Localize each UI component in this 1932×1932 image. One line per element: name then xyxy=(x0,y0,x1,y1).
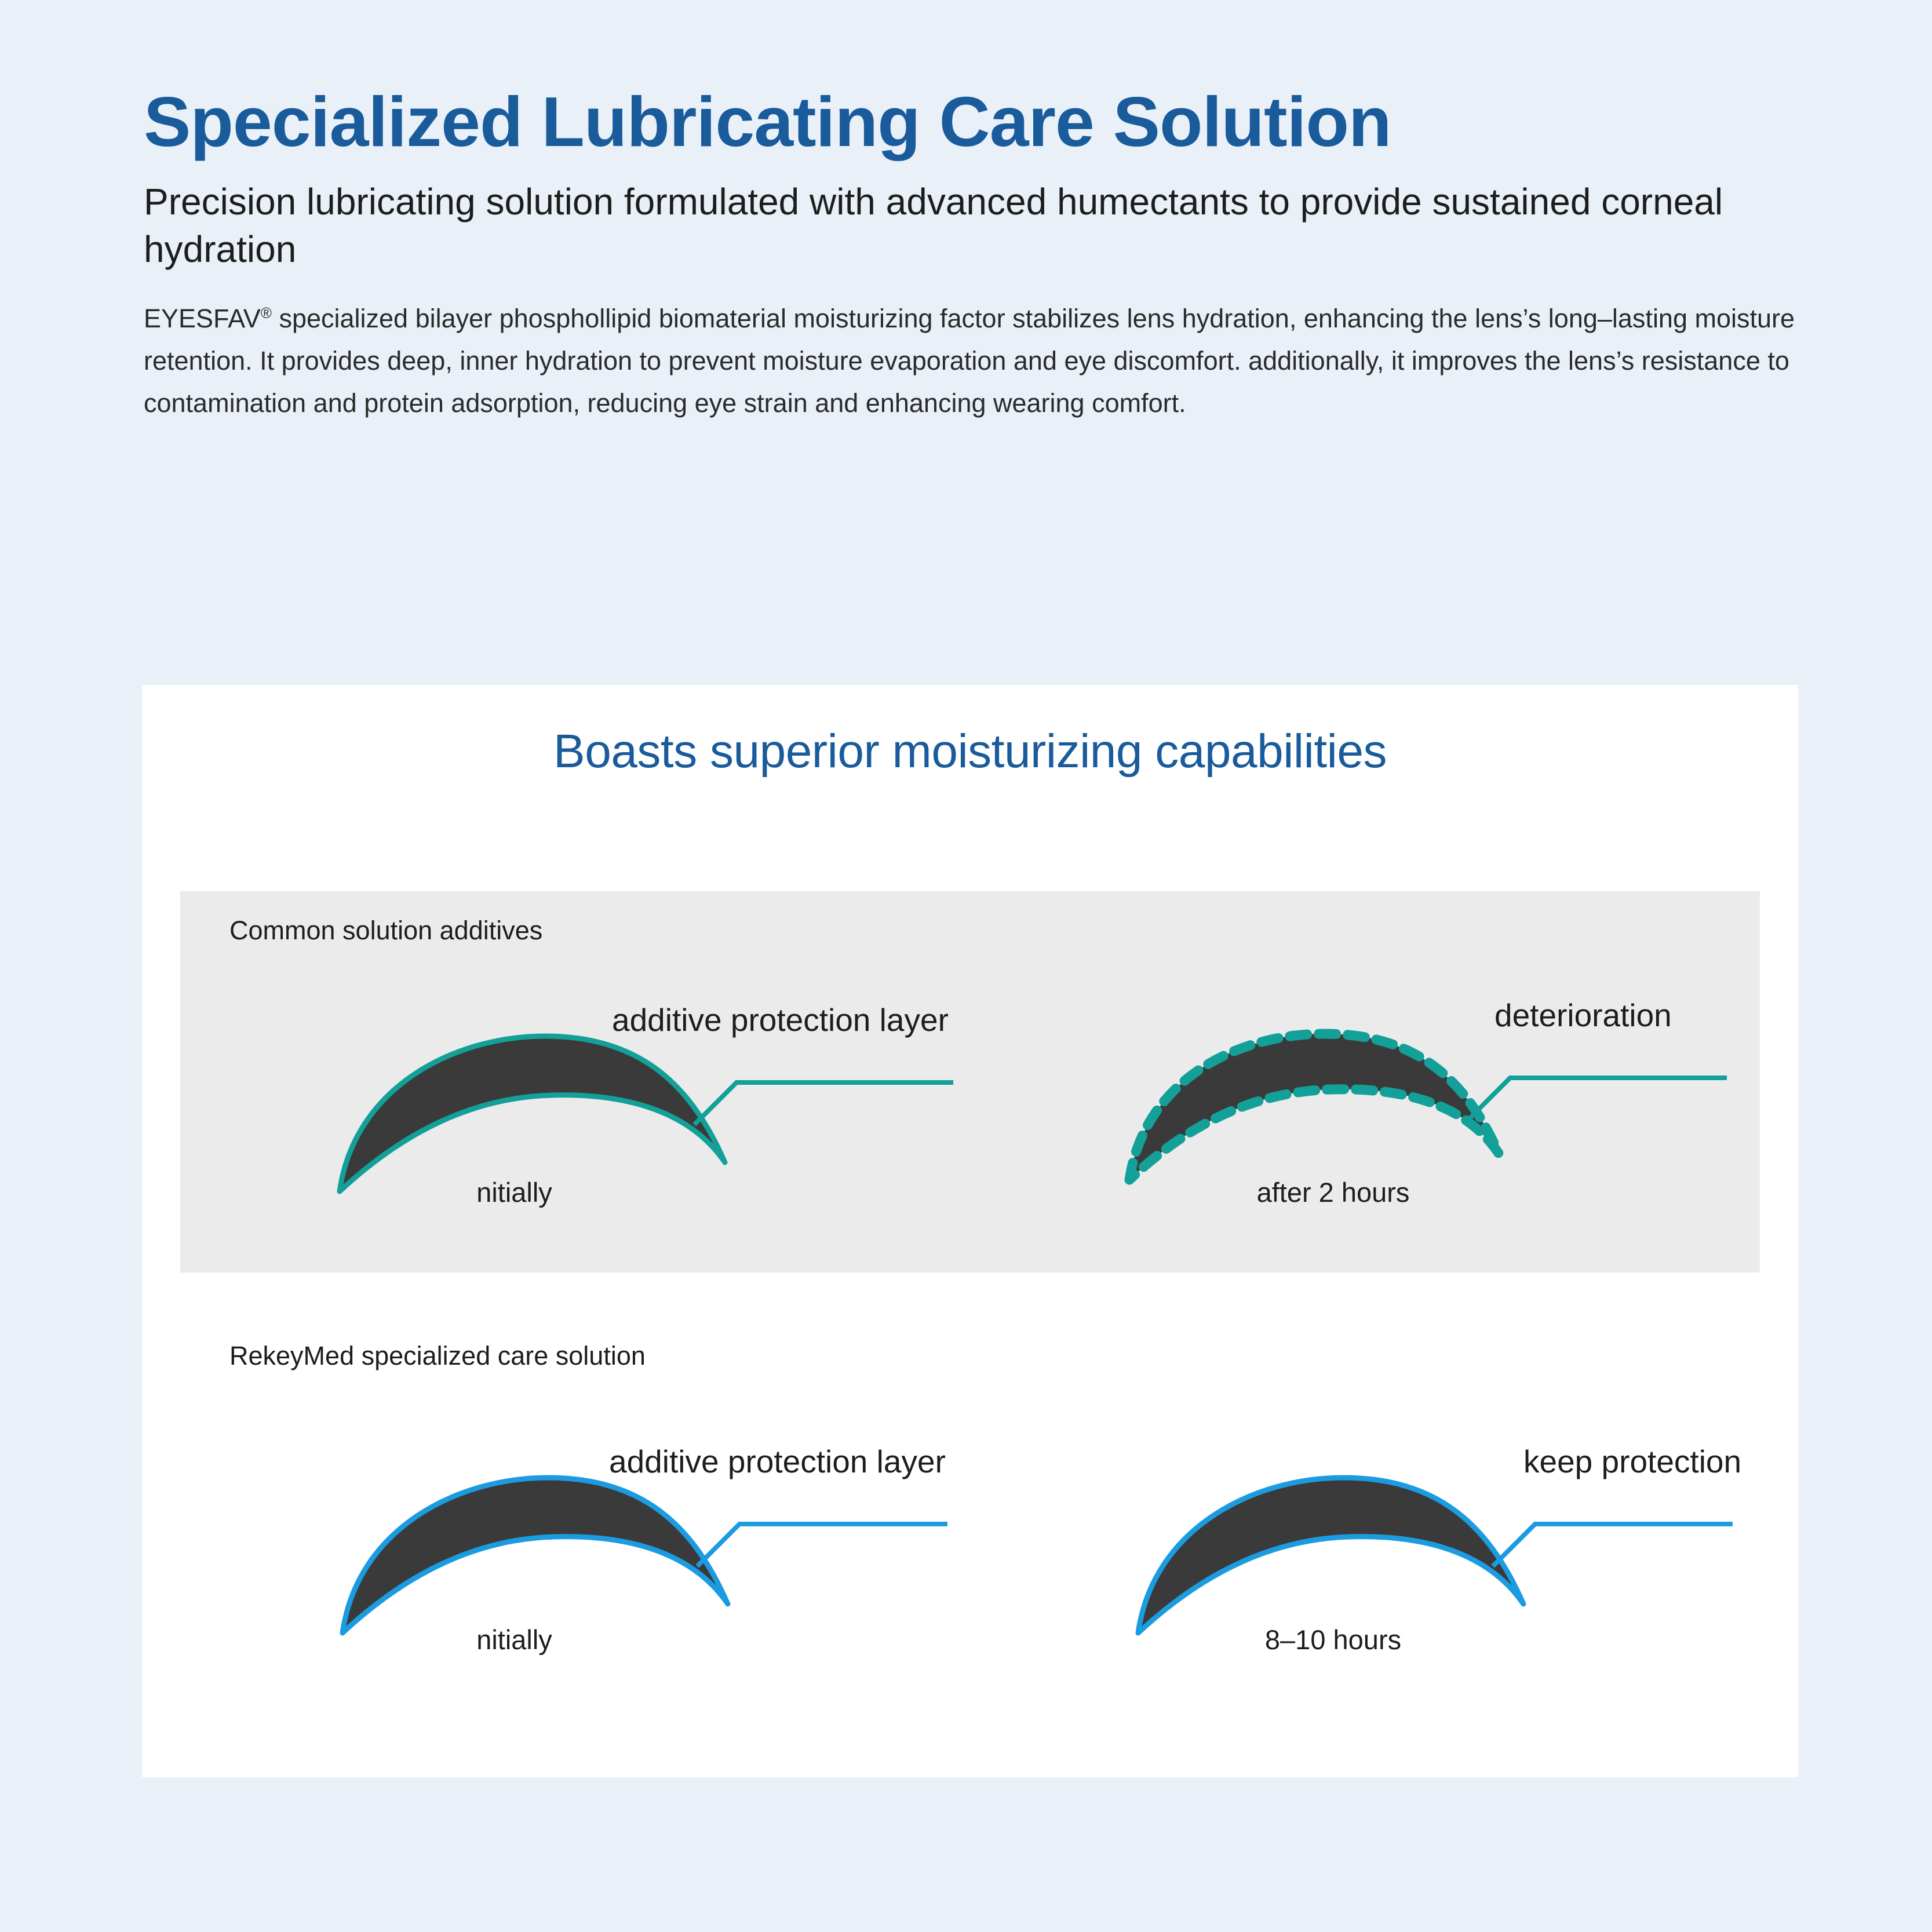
lens-crescent-dashed-teal-icon xyxy=(970,891,1760,1273)
panel-common-solution: Common solution additives additive prote… xyxy=(180,891,1760,1273)
page-subtitle: Precision lubricating solution formulate… xyxy=(144,178,1801,274)
card-heading: Boasts superior moisturizing capabilitie… xyxy=(142,724,1798,779)
caption-rekeymed-initial: nitially xyxy=(119,1624,909,1656)
callout-rekeymed-after: keep protection xyxy=(1523,1443,1741,1480)
callout-rekeymed-initial: additive protection layer xyxy=(609,1443,946,1480)
diagram-common-after: deterioration after 2 hours xyxy=(970,891,1760,1273)
body-copy: specialized bilayer phosphollipid biomat… xyxy=(144,304,1795,418)
caption-common-after: after 2 hours xyxy=(938,1176,1728,1208)
lens-crescent-solid-blue-icon xyxy=(180,1317,970,1722)
feature-card: Boasts superior moisturizing capabilitie… xyxy=(142,685,1798,1777)
lens-crescent-solid-blue-keep-icon xyxy=(970,1317,1760,1722)
page-body-text: EYESFAV® specialized bilayer phosphollip… xyxy=(144,298,1801,425)
diagram-rekeymed-after: keep protection 8–10 hours xyxy=(970,1317,1760,1722)
callout-common-after: deterioration xyxy=(1494,997,1672,1034)
caption-rekeymed-after: 8–10 hours xyxy=(938,1624,1728,1656)
caption-common-initial: nitially xyxy=(119,1176,909,1208)
diagram-common-initial: additive protection layer nitially xyxy=(180,891,970,1273)
registered-mark-icon: ® xyxy=(261,304,272,322)
brand-name: EYESFAV xyxy=(144,304,261,333)
diagram-rekeymed-initial: additive protection layer nitially xyxy=(180,1317,970,1722)
callout-common-initial: additive protection layer xyxy=(612,1001,949,1038)
page-header: Specialized Lubricating Care Solution Pr… xyxy=(144,81,1801,425)
lens-crescent-solid-teal-icon xyxy=(180,891,970,1273)
panel-rekeymed-solution: RekeyMed specialized care solution addit… xyxy=(180,1317,1760,1722)
page-title: Specialized Lubricating Care Solution xyxy=(144,81,1801,162)
